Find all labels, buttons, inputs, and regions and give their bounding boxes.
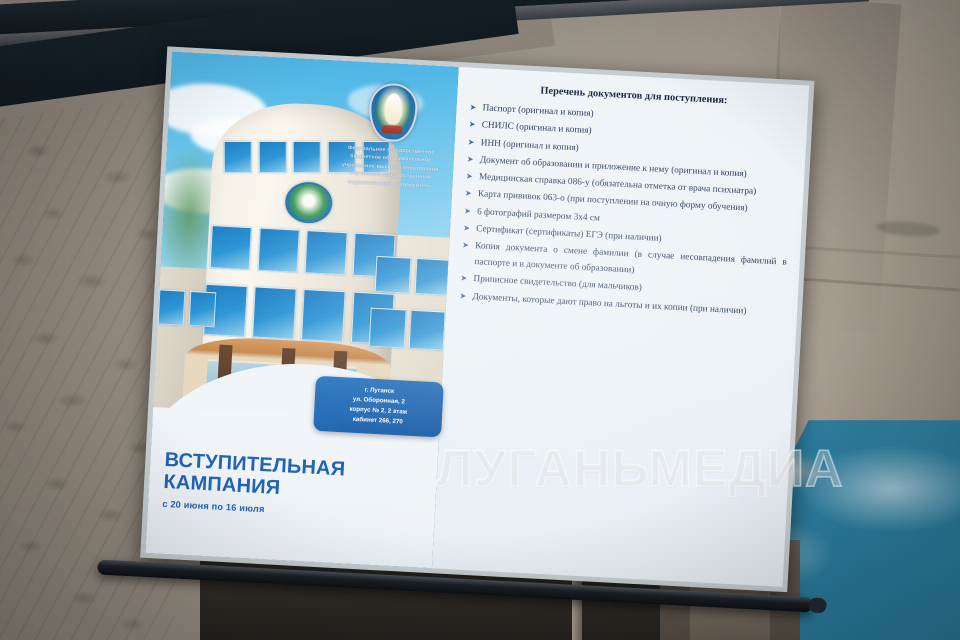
bullet-arrow-icon: ➤: [466, 170, 473, 184]
window: [369, 308, 406, 349]
bullet-arrow-icon: ➤: [463, 221, 470, 235]
window: [257, 227, 300, 272]
bullet-arrow-icon: ➤: [468, 118, 475, 132]
window: [305, 230, 348, 275]
bullet-arrow-icon: ➤: [459, 289, 466, 303]
bullet-arrow-icon: ➤: [467, 152, 474, 166]
screen-bar-end-cap: [808, 597, 827, 613]
bullet-arrow-icon: ➤: [462, 239, 469, 253]
window: [158, 289, 186, 326]
window: [301, 289, 345, 341]
slide-right-panel: Перечень документов для поступления: ➤Па…: [432, 67, 809, 587]
list-item-text: СНИЛС (оригинал и копия): [481, 121, 591, 137]
slide-left-panel: Федеральное государственное бюджетное об…: [145, 52, 458, 569]
window: [252, 287, 296, 339]
projection-screen[interactable]: Федеральное государственное бюджетное об…: [131, 34, 819, 608]
university-crest-icon: [368, 82, 419, 142]
organization-name: Федеральное государственное бюджетное об…: [329, 143, 452, 191]
presentation-slide: Федеральное государственное бюджетное об…: [145, 52, 809, 587]
bullet-arrow-icon: ➤: [469, 101, 476, 115]
documents-list: ➤Паспорт (оригинал и копия) ➤СНИЛС (ориг…: [459, 101, 794, 323]
window: [188, 291, 216, 328]
window-row: [158, 289, 217, 325]
list-item-text: Паспорт (оригинал и копия): [482, 103, 593, 119]
bullet-arrow-icon: ➤: [467, 135, 474, 149]
screen-frame: Федеральное государственное бюджетное об…: [140, 46, 814, 592]
window-row: [210, 225, 396, 276]
list-item-text: ИНН (оригинал и копия): [480, 138, 578, 153]
window: [293, 141, 321, 173]
organization-logo: Федеральное государственное бюджетное об…: [329, 80, 455, 191]
bullet-arrow-icon: ➤: [464, 204, 471, 218]
window: [209, 225, 252, 270]
window: [224, 141, 252, 173]
window: [259, 141, 287, 173]
window: [409, 310, 446, 351]
photo-scene: Федеральное государственное бюджетное об…: [0, 0, 960, 640]
list-item-text: 6 фотографий размером 3х4 см: [477, 207, 600, 224]
address-callout: г. Луганск ул. Оборонная, 2 корпус № 2, …: [313, 376, 444, 438]
window: [375, 256, 412, 293]
bullet-arrow-icon: ➤: [465, 187, 472, 201]
bullet-arrow-icon: ➤: [460, 272, 467, 286]
window: [414, 258, 451, 295]
window-row: [369, 308, 446, 349]
window-row: [375, 256, 451, 293]
window-row: [203, 284, 395, 342]
